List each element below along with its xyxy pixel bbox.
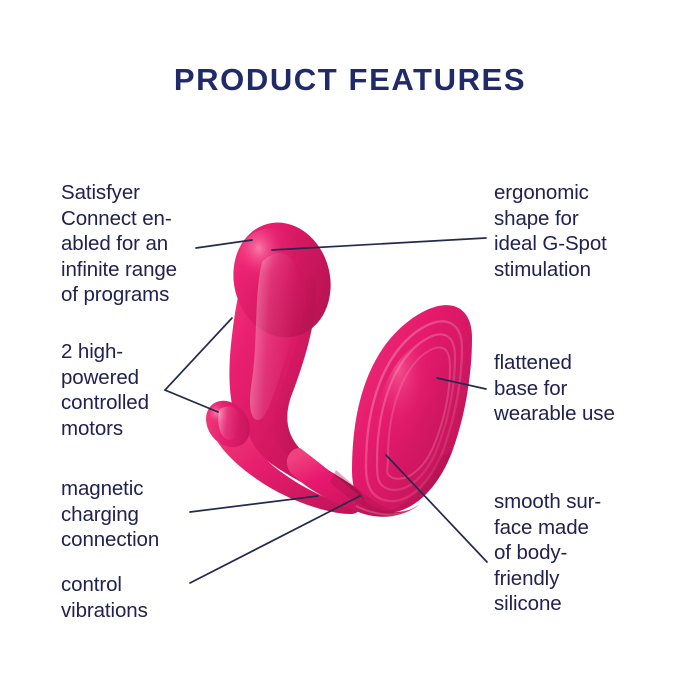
product-body: [197, 212, 472, 517]
infographic-canvas: PRODUCT FEATURES: [0, 0, 700, 700]
product-flattened-base: [352, 305, 472, 513]
product-illustration: [0, 0, 700, 700]
